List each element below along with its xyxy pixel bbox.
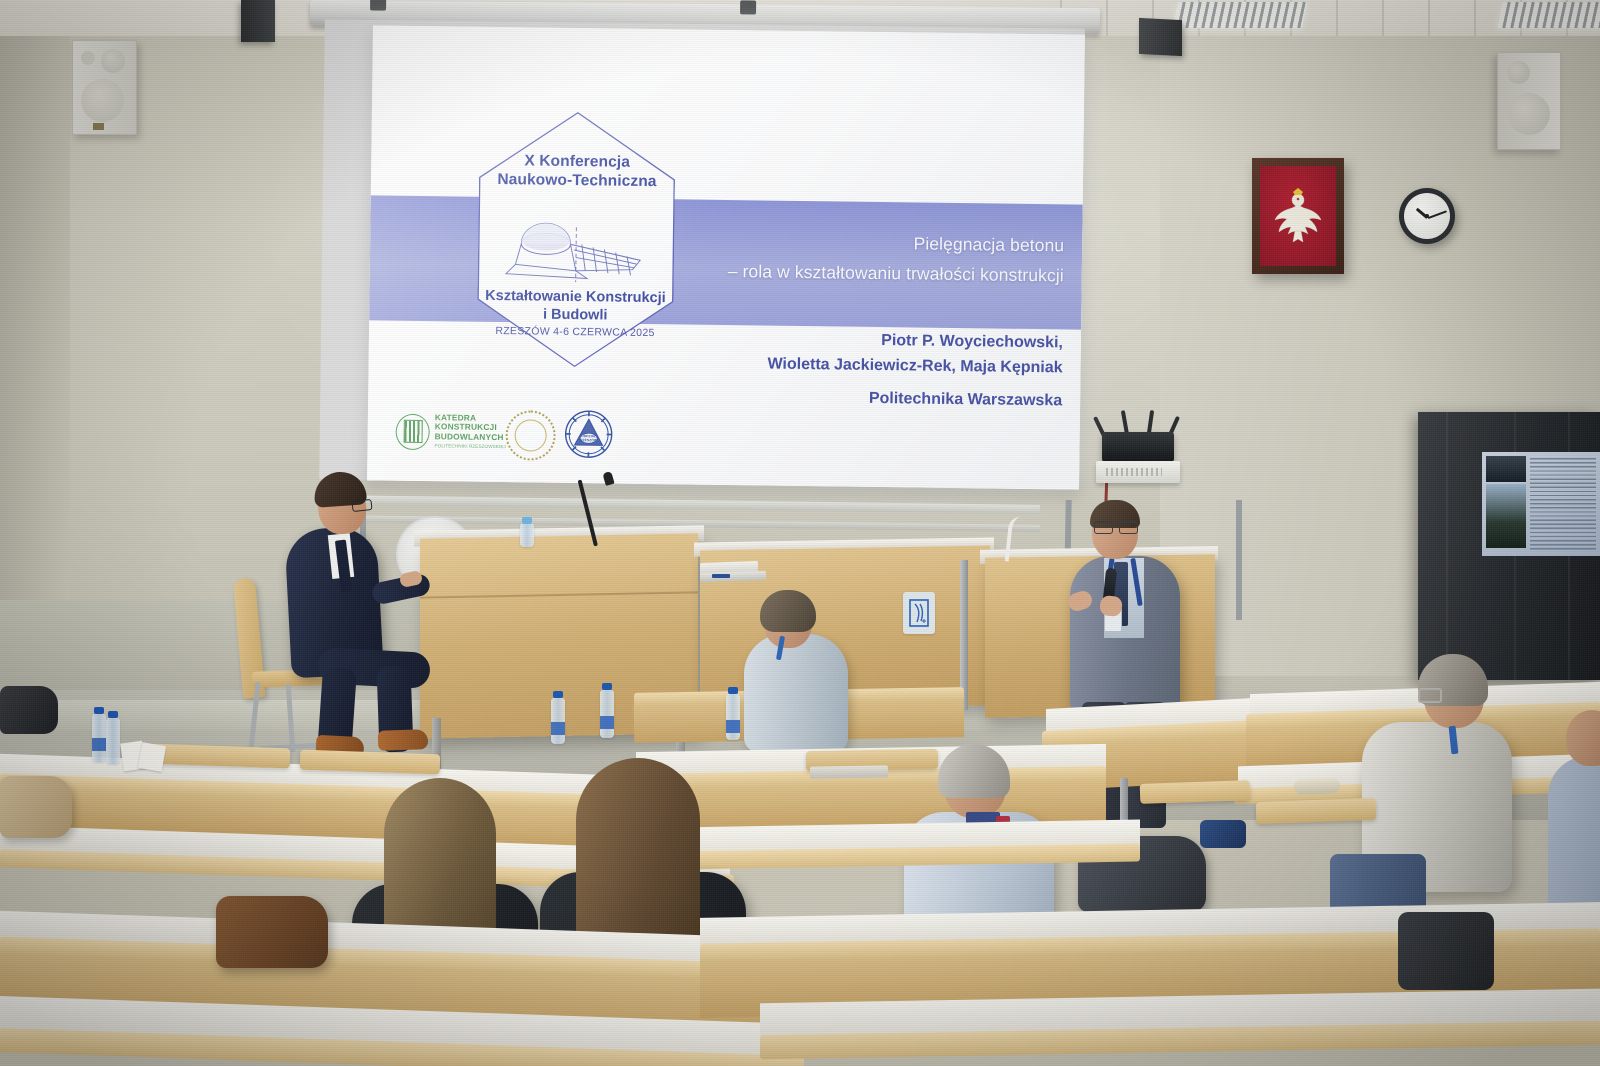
ceiling-light-panel-1: [1172, 2, 1308, 28]
ceiling-light-panel-2: [1497, 2, 1600, 28]
conference-logo-subtitle: Kształtowanie Konstrukcji i Budowli: [471, 287, 679, 326]
slide-logo-row: KATEDRA KONSTRUKCJI BUDOWLANYCH POLITECH…: [395, 407, 646, 468]
backpack-right: [1398, 912, 1494, 990]
slide-title-line1: Pielęgnacja betonu: [728, 226, 1064, 260]
clock-minute-hand: [1427, 210, 1446, 219]
router-wall-mount: [1096, 461, 1180, 483]
bottle-label: [92, 738, 106, 751]
pzitb-oddzial-rzeszow-logo: ODDZIAŁ RZESZÓW: [563, 409, 614, 460]
bottle-label: [600, 716, 614, 729]
poster-photo-bottom: [1486, 484, 1526, 548]
speaker-woofer-icon: [81, 79, 124, 122]
handbag-brown: [216, 896, 328, 968]
moderator-shoe-right: [378, 729, 429, 751]
conf-line1: X Konferencja: [524, 152, 630, 170]
front-center-hair: [760, 590, 816, 632]
ceiling-speaker-dark-right: [1139, 18, 1182, 56]
lecture-hall-photo: X Konferencja Naukowo-Techniczna: [0, 0, 1600, 1066]
water-bottle: [551, 698, 565, 744]
scientific-poster: [1482, 452, 1600, 556]
bottle-cap: [553, 691, 563, 698]
speaker-badge: [93, 123, 104, 130]
seat-back: [1140, 780, 1251, 804]
conference-logo-title: X Konferencja Naukowo-Techniczna: [479, 151, 675, 192]
water-bottle: [106, 718, 120, 764]
katedra-logo-text: KATEDRA KONSTRUKCJI BUDOWLANYCH POLITECH…: [434, 413, 506, 451]
presentation-slide: X Konferencja Naukowo-Techniczna: [367, 25, 1085, 489]
water-bottle: [520, 523, 534, 547]
backpack-dark: [0, 686, 58, 734]
handbag-beige: [0, 776, 72, 838]
speaker-tweeter-icon: [81, 51, 95, 65]
bottle-cap: [94, 707, 104, 714]
katedra-konstrukcji-budowlanych-logo: KATEDRA KONSTRUKCJI BUDOWLANYCH POLITECH…: [395, 413, 506, 452]
slide-title: Pielęgnacja betonu – rola w kształtowani…: [728, 226, 1065, 290]
slide-title-line2: – rola w kształtowaniu trwałości konstru…: [728, 256, 1064, 290]
slide-authors: Piotr P. Woyciechowski, Wioletta Jackiew…: [767, 327, 1063, 381]
moderator-glasses: [351, 499, 372, 512]
katedra-line4: POLITECHNIKI RZESZOWSKIEJ: [434, 441, 506, 451]
accessibility-logo-sticker: [903, 592, 935, 634]
polish-eagle-icon: [1271, 185, 1325, 247]
poster-text-block: [1530, 458, 1596, 550]
presenter-glasses-right: [1119, 521, 1138, 534]
clock-center-pin: [1425, 214, 1429, 218]
shell-structure-illustration: [500, 215, 653, 285]
bottle-label: [726, 720, 740, 733]
pzitb-sub: RZESZÓW: [580, 437, 598, 442]
water-bottle: [600, 690, 614, 738]
polish-eagle-emblem-frame: [1252, 158, 1344, 274]
seat-back: [1256, 798, 1377, 824]
poster-photo-top: [1486, 456, 1526, 482]
clock-face: [1404, 193, 1450, 239]
conf-line3: Kształtowanie Konstrukcji: [485, 288, 666, 306]
front-center-shirt: [744, 634, 848, 752]
name-card-paper-fold: [138, 742, 166, 772]
conf-line4: i Budowli: [543, 307, 608, 324]
lectern-panel-seam: [420, 591, 698, 598]
speaker-woofer-icon: [1508, 93, 1550, 135]
water-bottle: [726, 694, 740, 740]
slide-affiliation: Politechnika Warszawska: [869, 390, 1062, 411]
projection-screen: X Konferencja Naukowo-Techniczna: [367, 25, 1085, 489]
desk-cable-connector: [712, 574, 730, 578]
slide-authors-line1: Piotr P. Woyciechowski,: [768, 327, 1063, 356]
wall-speaker-right: [1497, 52, 1561, 150]
left-wall-return: [0, 36, 70, 696]
rail-post-3: [1236, 500, 1242, 620]
roller-bracket-right: [740, 0, 756, 14]
bottle-cap: [108, 711, 118, 718]
wall-clock: [1399, 188, 1455, 244]
katedra-mark-icon: [395, 413, 429, 449]
speaker-mid-icon: [1507, 61, 1530, 84]
slide-authors-line2: Wioletta Jackiewicz-Rek, Maja Kępniak: [767, 352, 1062, 381]
wifi-router: [1102, 432, 1174, 462]
conference-date-place: RZESZÓW 4-6 CZERWCA 2025: [463, 325, 687, 340]
roller-bracket-left: [370, 0, 386, 11]
bag-on-bench: [1200, 820, 1246, 848]
snack-item-on-desk: [1294, 777, 1341, 795]
bottle-cap: [602, 683, 612, 690]
accessibility-logo-icon: [909, 599, 929, 627]
man-right-glasses: [1418, 688, 1442, 703]
conf-line2: Naukowo-Techniczna: [497, 171, 656, 190]
emblem-red-field: [1260, 166, 1336, 266]
notebook-on-desk: [810, 765, 888, 778]
bottle-label: [551, 722, 565, 735]
bottle-cap: [522, 517, 532, 524]
speaker-mid-icon: [101, 49, 125, 73]
ceiling-speaker-dark-left: [241, 0, 275, 42]
presenter-glasses-left: [1094, 521, 1113, 534]
podkarpacka-izba-inzynierow-budownictwa-seal: [505, 410, 556, 461]
wall-speaker-left: [72, 40, 137, 135]
bottle-cap: [728, 687, 738, 694]
conference-logo: X Konferencja Naukowo-Techniczna: [477, 111, 676, 369]
